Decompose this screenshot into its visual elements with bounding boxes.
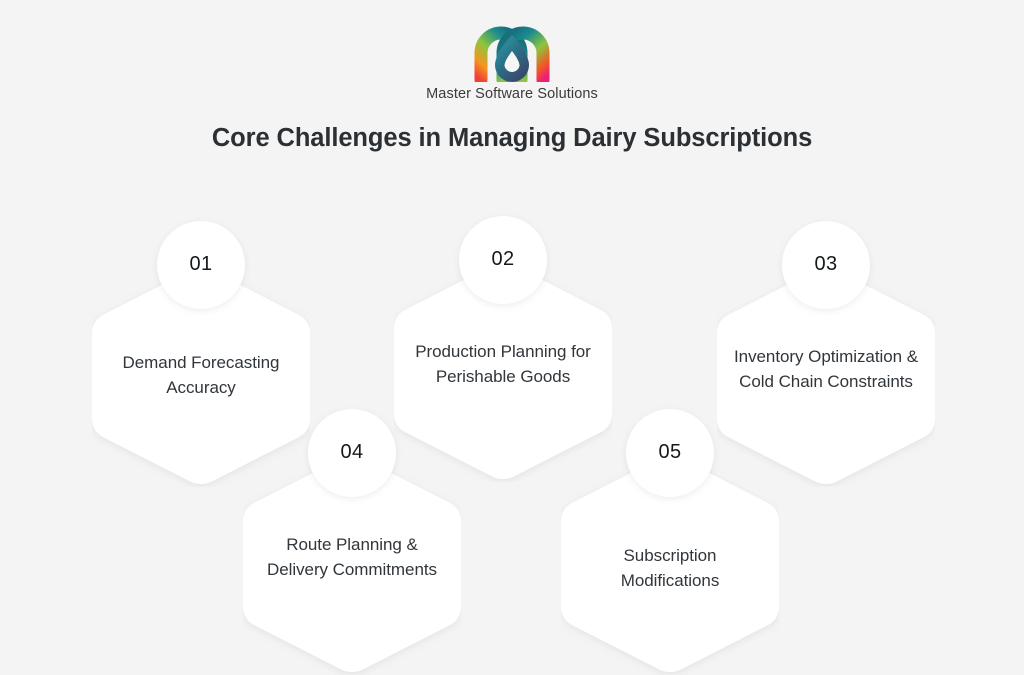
master-software-solutions-logo-icon [474, 20, 550, 82]
challenge-number: 02 [491, 249, 514, 271]
page-title: Core Challenges in Managing Dairy Subscr… [0, 124, 1024, 153]
challenge-number-badge: 02 [459, 216, 547, 304]
challenge-label: Production Planning for Perishable Goods [408, 340, 598, 389]
brand-name: Master Software Solutions [0, 86, 1024, 102]
challenge-label: Subscription Modifications [575, 544, 765, 593]
infographic-canvas: Master Software Solutions Core Challenge… [0, 0, 1024, 657]
challenge-number-badge: 04 [308, 409, 396, 497]
challenge-number: 01 [189, 254, 212, 276]
challenge-card-04[interactable]: 04Route Planning & Delivery Commitments [243, 453, 461, 675]
challenge-number-badge: 03 [782, 221, 870, 309]
challenge-label: Demand Forecasting Accuracy [106, 351, 296, 400]
challenge-label: Inventory Optimization & Cold Chain Cons… [731, 345, 921, 394]
challenge-number: 04 [340, 442, 363, 464]
challenge-number: 05 [658, 442, 681, 464]
challenge-label: Route Planning & Delivery Commitments [257, 533, 447, 582]
challenge-card-05[interactable]: 05Subscription Modifications [561, 453, 779, 675]
challenge-number-badge: 01 [157, 221, 245, 309]
challenge-card-02[interactable]: 02Production Planning for Perishable Goo… [394, 260, 612, 482]
challenge-number: 03 [814, 254, 837, 276]
challenge-number-badge: 05 [626, 409, 714, 497]
